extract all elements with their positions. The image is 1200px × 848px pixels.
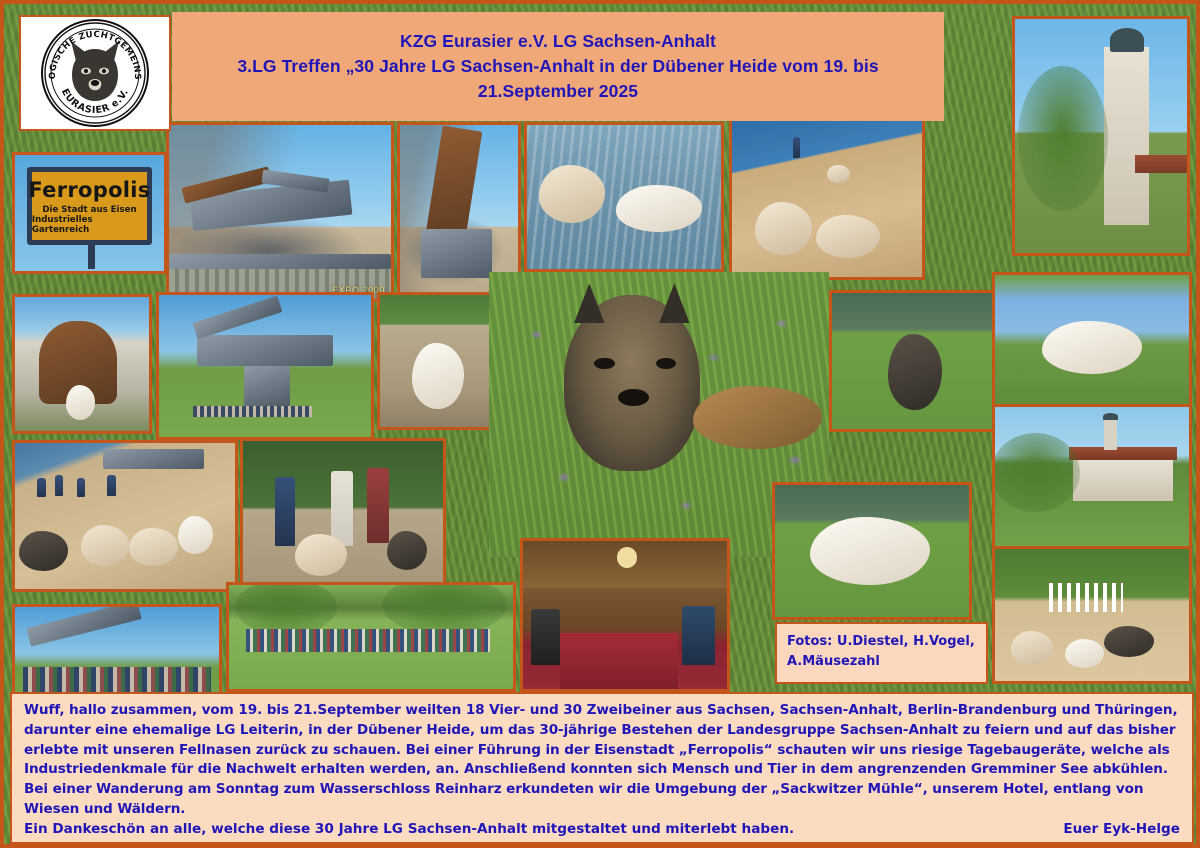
- photo-bagger-excavator-bridge: EXPO 2000: [166, 122, 394, 302]
- header-title-line1: KZG Eurasier e.V. LG Sachsen-Anhalt: [186, 29, 930, 54]
- description-paragraph-2: Ein Dankeschön an alle, welche diese 30 …: [24, 820, 794, 840]
- photo-dogs-people-lakeshore: [12, 440, 238, 592]
- header-title-line2: 3.LG Treffen „30 Jahre LG Sachsen-Anhalt…: [186, 54, 930, 104]
- logo-dog-head-icon: KYNOLOGISCHE ZUCHTGEMEINSCHAFT EURASIER …: [43, 21, 147, 125]
- description-block: Wuff, hallo zusammen, vom 19. bis 21.Sep…: [10, 692, 1194, 844]
- photo-credit-box: Fotos: U.Diestel, H.Vogel, A.Mäusezahl: [775, 622, 988, 684]
- signature: Euer Eyk-Helge: [1063, 820, 1180, 840]
- logo-circle: KYNOLOGISCHE ZUCHTGEMEINSCHAFT EURASIER …: [41, 19, 149, 127]
- ferropolis-subtitle1: Die Stadt aus Eisen: [42, 205, 136, 215]
- ferropolis-sign-board: Ferropolis Die Stadt aus Eisen Industrie…: [27, 167, 152, 246]
- photo-white-dog-meadow: [772, 482, 972, 620]
- photo-ferropolis-sign: Ferropolis Die Stadt aus Eisen Industrie…: [12, 152, 167, 274]
- signature-row: Ein Dankeschön an alle, welche diese 30 …: [24, 820, 1180, 840]
- photo-two-dogs-swimming: [524, 122, 724, 272]
- header-banner: KZG Eurasier e.V. LG Sachsen-Anhalt 3.LG…: [172, 12, 944, 121]
- photo-dog-shaking-water: [992, 272, 1192, 412]
- photo-castle-reinharz: [992, 404, 1192, 552]
- photo-white-dog-running-path: [377, 292, 499, 430]
- photo-group-photo-lawn: [226, 582, 516, 692]
- photo-dark-dog-in-grass: [829, 290, 1001, 432]
- photo-credit-line2: A.Mäusezahl: [787, 652, 976, 672]
- photo-dinner-restaurant: [520, 538, 730, 692]
- poster-collage: KYNOLOGISCHE ZUCHTGEMEINSCHAFT EURASIER …: [0, 0, 1200, 848]
- kzg-eurasier-logo: KYNOLOGISCHE ZUCHTGEMEINSCHAFT EURASIER …: [19, 15, 171, 131]
- photo-water-tower-reinharz: [1012, 16, 1190, 256]
- photo-dog-under-bucket-wheel: [12, 294, 152, 434]
- ferropolis-subtitle2: Industrielles Gartenreich: [32, 215, 147, 235]
- ferropolis-title: Ferropolis: [28, 178, 150, 202]
- photo-credit-line1: Fotos: U.Diestel, H.Vogel,: [787, 632, 976, 652]
- photo-walkers-with-dogs: [240, 438, 446, 594]
- sign-pole: [88, 241, 95, 269]
- photo-dogs-playing-sand: [992, 546, 1192, 684]
- description-paragraph-1: Wuff, hallo zusammen, vom 19. bis 21.Sep…: [24, 701, 1180, 820]
- photo-big-excavator-group: [156, 292, 374, 440]
- photo-dogs-on-lake-shore: [729, 118, 925, 280]
